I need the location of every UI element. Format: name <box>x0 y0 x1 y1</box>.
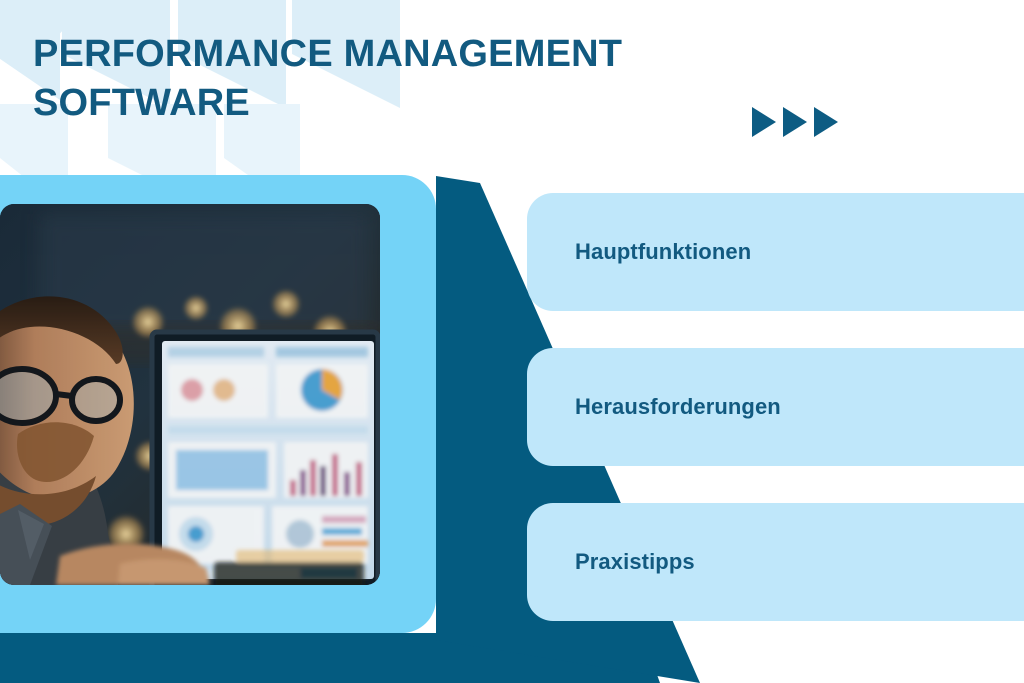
photo-illustration <box>0 204 380 585</box>
list-item[interactable]: Praxistipps <box>527 503 1024 621</box>
slide-canvas: PERFORMANCE MANAGEMENT SOFTWARE <box>0 0 1024 683</box>
list-item-label: Hauptfunktionen <box>575 239 751 265</box>
list-item-label: Herausforderungen <box>575 394 781 420</box>
list-item[interactable]: Herausforderungen <box>527 348 1024 466</box>
page-title: PERFORMANCE MANAGEMENT SOFTWARE <box>33 30 773 129</box>
triple-play-arrow-icon <box>752 105 838 139</box>
list-item-label: Praxistipps <box>575 549 695 575</box>
list-item[interactable]: Hauptfunktionen <box>527 193 1024 311</box>
photo-frame <box>0 175 436 633</box>
